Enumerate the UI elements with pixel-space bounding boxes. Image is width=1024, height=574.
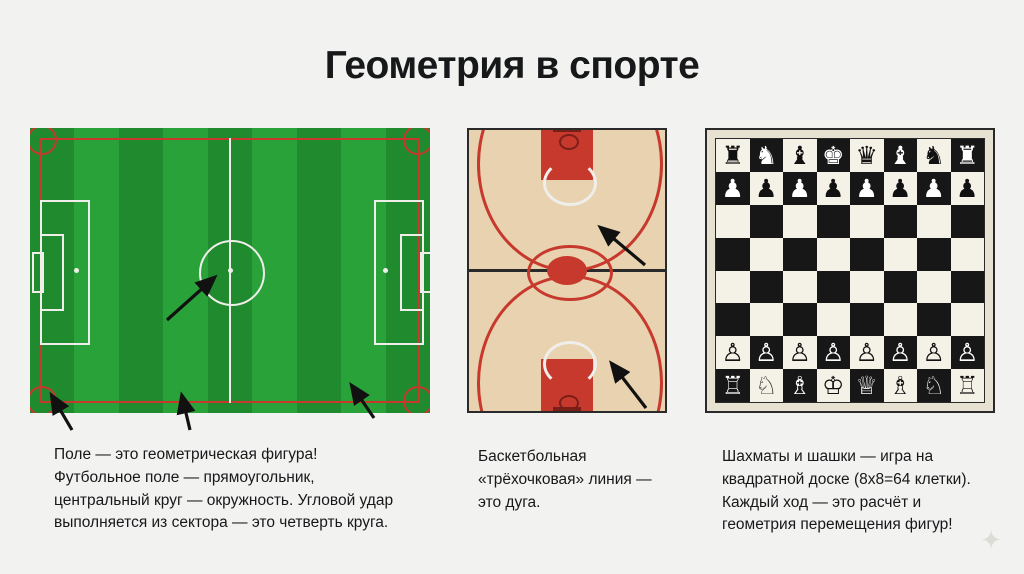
pawn-icon: ♟ — [956, 176, 978, 201]
pawn-icon: ♟ — [755, 176, 777, 201]
pawn-icon: ♟ — [923, 176, 945, 201]
chess-square[interactable]: ♜ — [716, 139, 750, 172]
chess-square[interactable]: ♗ — [783, 369, 817, 402]
pawn-icon: ♙ — [755, 340, 777, 365]
chess-square[interactable]: ♜ — [951, 139, 985, 172]
chess-square[interactable]: ♙ — [750, 336, 784, 369]
chess-square[interactable] — [750, 271, 784, 304]
chess-board-grid: ♜♞♝♚♛♝♞♜♟♟♟♟♟♟♟♟♙♙♙♙♙♙♙♙♖♘♗♔♕♗♘♖ — [715, 138, 985, 403]
pawn-icon: ♙ — [923, 340, 945, 365]
chess-square[interactable] — [951, 303, 985, 336]
chess-square[interactable] — [750, 238, 784, 271]
goal-left — [32, 252, 44, 293]
caption-basketball: Баскетбольная «трёхочковая» линия — это … — [478, 446, 673, 514]
rook-icon: ♜ — [956, 143, 978, 168]
pawn-icon: ♟ — [856, 176, 878, 201]
rook-icon: ♖ — [956, 373, 978, 398]
basketball-court-diagram — [467, 128, 667, 413]
corner-arc-bottom-left — [30, 386, 57, 413]
chess-square[interactable]: ♛ — [850, 139, 884, 172]
hoop-top — [559, 134, 579, 150]
bishop-icon: ♗ — [789, 373, 811, 398]
pitch-markings — [30, 128, 430, 413]
caption-football: Поле — это геометрическая фигура! Футбол… — [54, 444, 394, 535]
chess-square[interactable] — [783, 205, 817, 238]
pawn-icon: ♙ — [956, 340, 978, 365]
bishop-icon: ♝ — [789, 143, 811, 168]
chess-board-diagram: ♜♞♝♚♛♝♞♜♟♟♟♟♟♟♟♟♙♙♙♙♙♙♙♙♖♘♗♔♕♗♘♖ — [705, 128, 995, 413]
page-title: Геометрия в спорте — [0, 44, 1024, 88]
chess-square[interactable]: ♙ — [783, 336, 817, 369]
chess-square[interactable]: ♚ — [817, 139, 851, 172]
chess-square[interactable] — [917, 238, 951, 271]
chess-square[interactable]: ♗ — [884, 369, 918, 402]
chess-square[interactable]: ♟ — [917, 172, 951, 205]
sparkle-icon: ✦ — [980, 525, 1002, 556]
chess-square[interactable]: ♙ — [817, 336, 851, 369]
chess-square[interactable]: ♟ — [884, 172, 918, 205]
chess-square[interactable]: ♝ — [884, 139, 918, 172]
chess-square[interactable] — [917, 205, 951, 238]
free-throw-arc-top — [543, 160, 597, 206]
pawn-icon: ♟ — [722, 176, 744, 201]
chess-square[interactable] — [917, 303, 951, 336]
chess-square[interactable] — [716, 271, 750, 304]
chess-square[interactable]: ♙ — [884, 336, 918, 369]
chess-square[interactable]: ♙ — [850, 336, 884, 369]
chess-square[interactable] — [716, 205, 750, 238]
chess-square[interactable]: ♟ — [750, 172, 784, 205]
chess-square[interactable]: ♘ — [750, 369, 784, 402]
pawn-icon: ♟ — [889, 176, 911, 201]
chess-square[interactable] — [750, 303, 784, 336]
chess-square[interactable] — [783, 303, 817, 336]
bishop-icon: ♗ — [889, 373, 911, 398]
chess-square[interactable] — [716, 303, 750, 336]
chess-square[interactable] — [850, 205, 884, 238]
chess-square[interactable] — [817, 238, 851, 271]
corner-arc-bottom-right — [403, 386, 430, 413]
chess-square[interactable] — [716, 238, 750, 271]
king-icon: ♔ — [822, 373, 844, 398]
knight-icon: ♞ — [923, 143, 945, 168]
chess-square[interactable] — [884, 271, 918, 304]
chess-square[interactable]: ♖ — [716, 369, 750, 402]
bishop-icon: ♝ — [889, 143, 911, 168]
chess-square[interactable] — [951, 205, 985, 238]
chess-square[interactable]: ♟ — [716, 172, 750, 205]
chess-square[interactable] — [817, 271, 851, 304]
knight-icon: ♘ — [923, 373, 945, 398]
goal-right — [420, 252, 430, 293]
pawn-icon: ♙ — [722, 340, 744, 365]
chess-square[interactable]: ♞ — [917, 139, 951, 172]
knight-icon: ♞ — [755, 143, 777, 168]
chess-square[interactable] — [884, 303, 918, 336]
penalty-spot-left — [74, 268, 79, 273]
backboard-top — [553, 128, 581, 132]
pawn-icon: ♙ — [856, 340, 878, 365]
hoop-bottom — [559, 395, 579, 411]
chess-square[interactable]: ♔ — [817, 369, 851, 402]
rook-icon: ♖ — [722, 373, 744, 398]
pawn-icon: ♟ — [789, 176, 811, 201]
chess-square[interactable]: ♝ — [783, 139, 817, 172]
caption-chess: Шахматы и шашки — игра на квадратной дос… — [722, 446, 972, 537]
rook-icon: ♜ — [722, 143, 744, 168]
chess-square[interactable]: ♙ — [917, 336, 951, 369]
pawn-icon: ♙ — [822, 340, 844, 365]
chess-square[interactable] — [917, 271, 951, 304]
penalty-spot-right — [383, 268, 388, 273]
chess-square[interactable]: ♘ — [917, 369, 951, 402]
chess-square[interactable] — [951, 238, 985, 271]
chess-square[interactable]: ♟ — [951, 172, 985, 205]
football-pitch-diagram — [30, 128, 430, 413]
chess-square[interactable]: ♙ — [951, 336, 985, 369]
knight-icon: ♘ — [755, 373, 777, 398]
chess-square[interactable] — [783, 238, 817, 271]
center-spot — [228, 268, 233, 273]
chess-square[interactable]: ♕ — [850, 369, 884, 402]
chess-square[interactable] — [951, 271, 985, 304]
chess-square[interactable] — [783, 271, 817, 304]
chess-square[interactable] — [884, 205, 918, 238]
chess-square[interactable] — [850, 238, 884, 271]
pawn-icon: ♙ — [789, 340, 811, 365]
corner-arc-top-left — [30, 128, 57, 155]
chess-square[interactable]: ♟ — [783, 172, 817, 205]
king-icon: ♚ — [822, 143, 844, 168]
chess-square[interactable]: ♞ — [750, 139, 784, 172]
chess-square[interactable] — [850, 303, 884, 336]
chess-square[interactable]: ♟ — [817, 172, 851, 205]
pawn-icon: ♙ — [889, 340, 911, 365]
chess-square[interactable]: ♙ — [716, 336, 750, 369]
chess-square[interactable] — [817, 303, 851, 336]
chess-square[interactable] — [817, 205, 851, 238]
free-throw-arc-bottom — [543, 341, 597, 387]
pawn-icon: ♟ — [822, 176, 844, 201]
chess-square[interactable] — [850, 271, 884, 304]
queen-icon: ♛ — [856, 143, 878, 168]
chess-square[interactable]: ♟ — [850, 172, 884, 205]
chess-square[interactable] — [750, 205, 784, 238]
corner-arc-top-right — [403, 128, 430, 155]
chess-square[interactable]: ♖ — [951, 369, 985, 402]
chess-square[interactable] — [884, 238, 918, 271]
queen-icon: ♕ — [856, 373, 878, 398]
